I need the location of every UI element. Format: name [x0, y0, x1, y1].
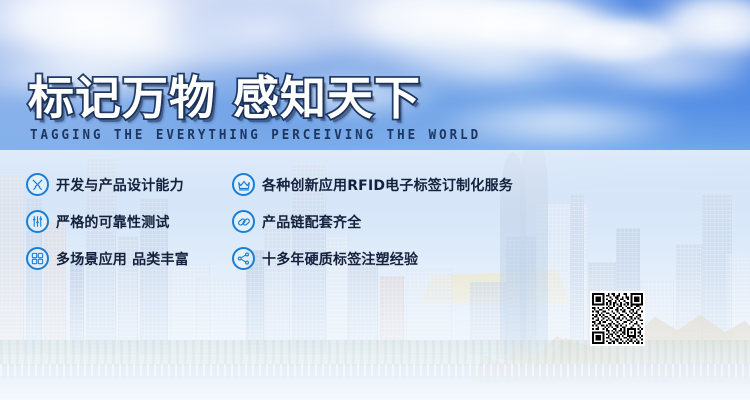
feature-label: 开发与产品设计能力 — [56, 175, 184, 195]
headline-title: 标记万物 感知天下 — [28, 72, 500, 124]
feature-item: 开发与产品设计能力 — [26, 166, 226, 203]
feature-label: 严格的可靠性测试 — [56, 212, 170, 232]
share-nodes-icon — [232, 247, 255, 270]
feature-list: 开发与产品设计能力 各种创新应用RFID电子标签订制化服务 — [26, 166, 513, 277]
feature-label: 多场景应用 品类丰富 — [56, 249, 189, 269]
feature-label: 十多年硬质标签注塑经验 — [262, 249, 418, 269]
sea-water — [0, 376, 750, 400]
grid-four-icon — [26, 247, 49, 270]
feature-item: 十多年硬质标签注塑经验 — [232, 240, 513, 277]
promo-banner: 标记万物 感知天下 TAGGING THE EVERYTHING PERCEIV… — [0, 0, 750, 400]
crown-icon — [232, 173, 255, 196]
feature-item: 产品链配套齐全 — [232, 203, 513, 240]
tools-crossed-icon — [26, 173, 49, 196]
qr-code-icon[interactable] — [590, 291, 645, 346]
feature-item: 各种创新应用RFID电子标签订制化服务 — [232, 166, 513, 203]
sliders-icon — [26, 210, 49, 233]
feature-label: 产品链配套齐全 — [262, 212, 361, 232]
link-chain-icon — [232, 210, 255, 233]
headline-block: 标记万物 感知天下 TAGGING THE EVERYTHING PERCEIV… — [28, 72, 500, 143]
feature-item: 严格的可靠性测试 — [26, 203, 226, 240]
qr-code-matrix — [592, 293, 643, 344]
twin-tower-icon — [520, 150, 548, 360]
feature-label: 各种创新应用RFID电子标签订制化服务 — [262, 175, 513, 195]
headline-subtitle: TAGGING THE EVERYTHING PERCEIVING THE WO… — [30, 128, 481, 143]
feature-item: 多场景应用 品类丰富 — [26, 240, 226, 277]
